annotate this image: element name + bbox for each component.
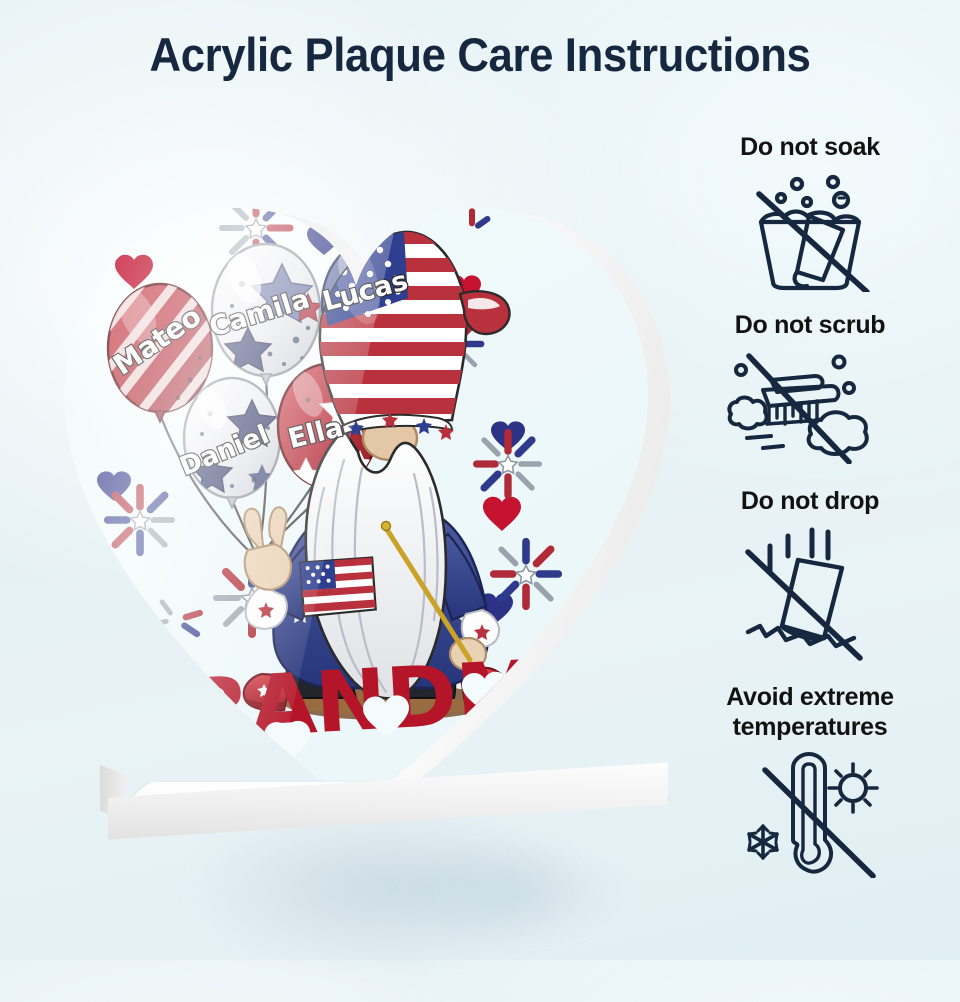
gnome-hat-american-flag (306, 226, 510, 426)
care-label: Avoid extreme temperatures (660, 682, 960, 742)
no-extreme-temperature-icon (735, 748, 885, 878)
care-label: Do not soak (660, 132, 960, 162)
acrylic-plaque-product-image: Mateo Camila Lucas Daniel Ella GRANDMA (78, 172, 698, 902)
care-item-do-not-soak: Do not soak (660, 132, 960, 310)
care-instructions-list: Do not soak Do not scrub (660, 132, 960, 882)
care-label: Do not scrub (660, 310, 960, 340)
no-scrub-icon (725, 346, 895, 464)
care-item-do-not-drop: Do not drop (660, 486, 960, 682)
balloon-camila (212, 244, 322, 385)
care-label: Do not drop (660, 486, 960, 516)
care-item-do-not-scrub: Do not scrub (660, 310, 960, 486)
page-title: Acrylic Plaque Care Instructions (34, 24, 927, 86)
no-drop-icon (732, 522, 888, 662)
no-soak-icon (735, 168, 885, 292)
care-item-avoid-extreme-temperatures: Avoid extreme temperatures (660, 682, 960, 882)
